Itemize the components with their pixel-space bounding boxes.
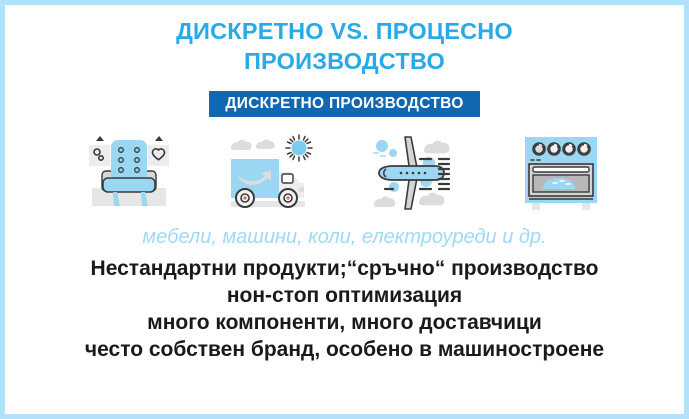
examples-caption: мебели, машини, коли, електроуреди и др. (142, 226, 546, 248)
icon-strip (5, 131, 684, 213)
delivery-truck-icon (225, 131, 321, 213)
section-badge: ДИСКРЕТНО ПРОИЗВОДСТВО (209, 91, 479, 117)
airplane-icon (369, 131, 465, 213)
statements-block: Нестандартни продукти;“сръчно“ производс… (5, 255, 684, 363)
statement-line-3: много компоненти, много доставчици (5, 309, 684, 336)
infographic-slide: ДИСКРЕТНО VS. ПРОЦЕСНО ПРОИЗВОДСТВО ДИСК… (0, 0, 689, 419)
armchair-furniture-icon (81, 131, 177, 213)
title-line-2: ПРОИЗВОДСТВО (5, 46, 684, 76)
statement-line-2: нон-стоп оптимизация (5, 282, 684, 309)
page-title: ДИСКРЕТНО VS. ПРОЦЕСНО ПРОИЗВОДСТВО (5, 5, 684, 76)
statement-line-1: Нестандартни продукти;“сръчно“ производс… (5, 255, 684, 282)
statement-line-4: често собствен бранд, особено в машиност… (5, 336, 684, 363)
badge-row: ДИСКРЕТНО ПРОИЗВОДСТВО (5, 91, 684, 117)
title-line-1: ДИСКРЕТНО VS. ПРОЦЕСНО (5, 16, 684, 46)
oven-stove-appliance-icon (513, 131, 609, 213)
caption-row: мебели, машини, коли, електроуреди и др. (5, 225, 684, 249)
